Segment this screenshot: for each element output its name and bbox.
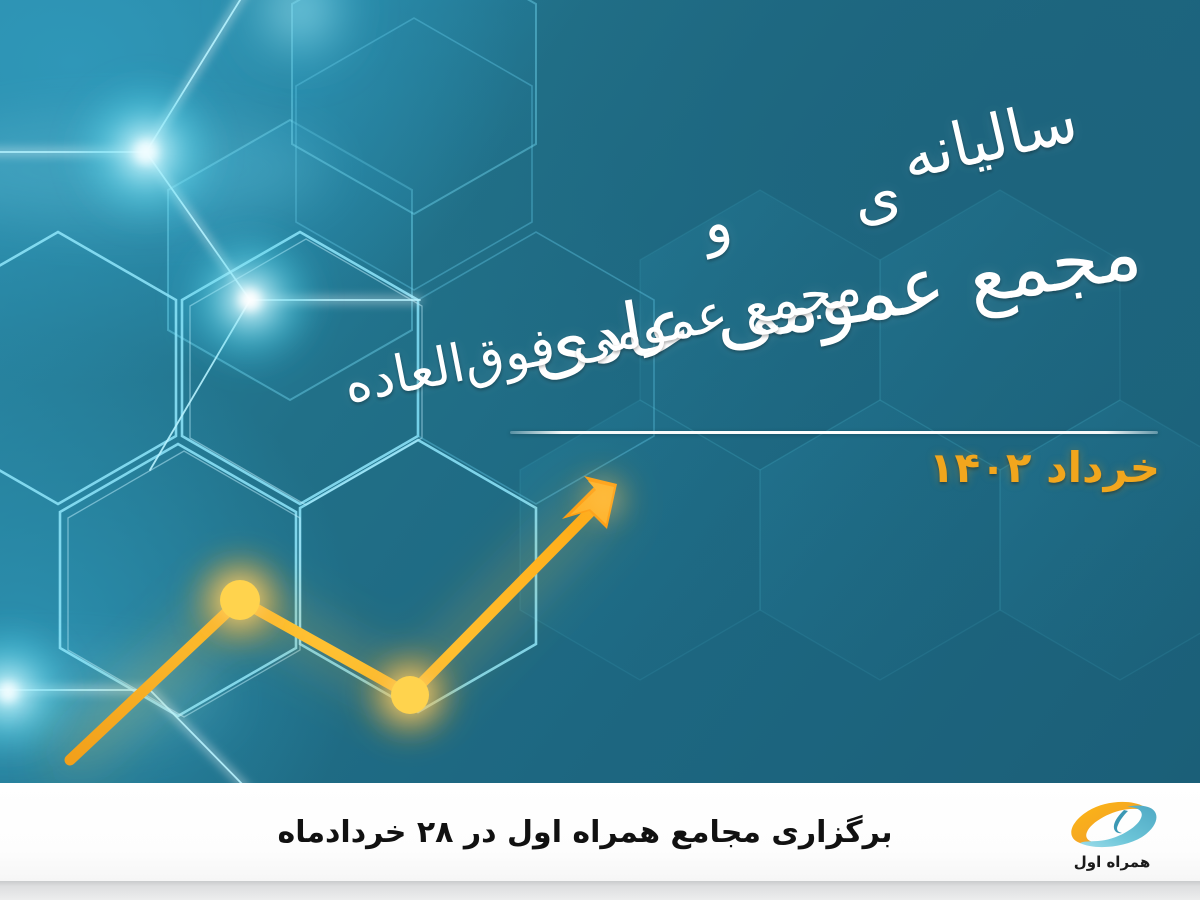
brand-logo: همراه اول [1046,790,1178,878]
caption-bar: برگزاری مجامع همراه اول در ۲۸ خردادماه [0,783,1200,881]
event-date: خرداد ۱۴۰۲ [929,443,1160,492]
footer-strip [0,881,1200,900]
mci-swoosh-icon [1060,798,1164,852]
brand-name: همراه اول [1074,853,1151,871]
hero-artwork [0,0,1200,783]
title-divider-rule [510,431,1158,434]
hexagon-network-icon [0,0,1200,783]
caption-text: برگزاری مجامع همراه اول در ۲۸ خردادماه [150,815,1020,850]
banner-canvas: سالیانه ی و مجمع عمومی عادی مجمع عمومی ف… [0,0,1200,900]
